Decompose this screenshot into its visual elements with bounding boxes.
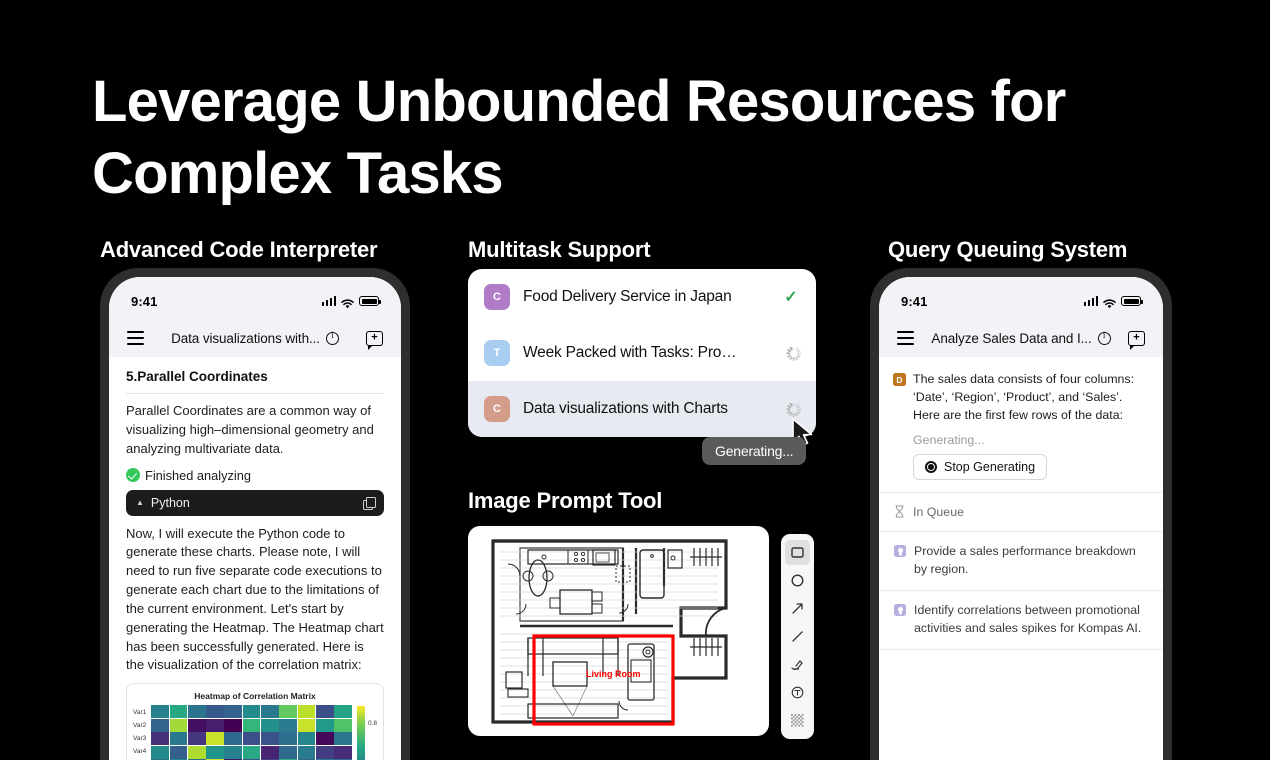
- line-tool-icon[interactable]: [785, 624, 810, 649]
- section-title-query-queuing: Query Queuing System: [888, 237, 1127, 263]
- task-title: Data visualizations with Charts: [523, 400, 772, 418]
- heatmap-cell: [334, 732, 352, 745]
- battery-icon: [359, 296, 379, 306]
- arrow-tool-icon[interactable]: [785, 596, 810, 621]
- chart-title: Heatmap of Correlation Matrix: [133, 691, 377, 701]
- info-circle-icon[interactable]: [326, 332, 339, 345]
- heatmap-cell: [151, 746, 169, 759]
- section-title-code-interpreter: Advanced Code Interpreter: [100, 237, 377, 263]
- section-title-multitask: Multitask Support: [468, 237, 650, 263]
- avatar: T: [484, 340, 510, 366]
- text-tool-icon[interactable]: [785, 680, 810, 705]
- multitask-list-card: CFood Delivery Service in Japan✓TWeek Pa…: [468, 269, 816, 437]
- avatar: C: [484, 396, 510, 422]
- analysis-status-label: Finished analyzing: [145, 468, 251, 483]
- task-list-item[interactable]: CData visualizations with Charts: [468, 381, 816, 437]
- queue-item-text: Provide a sales performance breakdown by…: [914, 543, 1148, 579]
- nav-title-group: Analyze Sales Data and I...: [879, 331, 1163, 346]
- heatmap-cell: [243, 732, 261, 745]
- heatmap-cell: [243, 746, 261, 759]
- code-language-label: Python: [151, 496, 190, 510]
- ellipse-tool-icon[interactable]: [785, 568, 810, 593]
- status-bar: 9:41: [109, 277, 401, 319]
- info-circle-icon[interactable]: [1098, 332, 1111, 345]
- queue-list-item[interactable]: Identify correlations between promotiona…: [879, 591, 1163, 649]
- avatar: C: [484, 284, 510, 310]
- queue-header: In Queue: [879, 493, 1163, 531]
- chat-content-left: 5.Parallel Coordinates Parallel Coordina…: [109, 357, 401, 760]
- divider: [879, 649, 1163, 650]
- heatmap-cell: [334, 746, 352, 759]
- pen-tool-icon[interactable]: [785, 652, 810, 677]
- heatmap-cell: [243, 719, 261, 732]
- queue-item-text: Identify correlations between promotiona…: [914, 602, 1148, 638]
- message-paragraph: Parallel Coordinates are a common way of…: [126, 402, 384, 459]
- heatmap-cell: [261, 719, 279, 732]
- stop-record-icon: [925, 461, 937, 473]
- heatmap-cell: [279, 732, 297, 745]
- heatmap-cell: [261, 732, 279, 745]
- wifi-icon: [341, 296, 354, 306]
- status-icons: [322, 296, 380, 306]
- rectangle-tool-icon[interactable]: [785, 540, 810, 565]
- hamburger-menu-icon[interactable]: [897, 331, 914, 344]
- heatmap-cell: [298, 719, 316, 732]
- status-bar: 9:41: [879, 277, 1163, 319]
- heatmap-cell: [261, 746, 279, 759]
- task-list-item[interactable]: TWeek Packed with Tasks: Pro…: [468, 325, 816, 381]
- user-badge-icon: [894, 604, 906, 616]
- heatmap-cell: [151, 705, 169, 718]
- heatmap-cell: [298, 732, 316, 745]
- heatmap-cell: [334, 719, 352, 732]
- phone-mockup-right: 9:41 Analyze Sales Data and I... +: [870, 268, 1172, 760]
- heatmap-cell: [188, 719, 206, 732]
- chat-content-right: D The sales data consists of four column…: [879, 357, 1163, 650]
- task-list: CFood Delivery Service in Japan✓TWeek Pa…: [468, 269, 816, 437]
- new-chat-icon[interactable]: +: [366, 331, 383, 346]
- heatmap-cell: [243, 705, 261, 718]
- nav-title-group: Data visualizations with...: [109, 331, 401, 346]
- section-title-image-prompt-tool: Image Prompt Tool: [468, 488, 662, 514]
- nav-bar: Analyze Sales Data and I... +: [879, 319, 1163, 357]
- message-heading: 5.Parallel Coordinates: [126, 369, 384, 393]
- chat-title: Analyze Sales Data and I...: [931, 331, 1091, 346]
- spinner-icon: [785, 346, 800, 361]
- heatmap-cell: [316, 732, 334, 745]
- document-badge: D: [893, 373, 906, 386]
- heatmap-cell: [170, 746, 188, 759]
- drawing-toolbar[interactable]: [781, 534, 814, 739]
- heatmap-cell: [279, 746, 297, 759]
- heatmap-cell: [224, 732, 242, 745]
- heatmap-cell: [224, 705, 242, 718]
- task-title: Week Packed with Tasks: Pro…: [523, 344, 772, 362]
- code-block-header[interactable]: ▲ Python: [126, 490, 384, 516]
- annotation-label: Living Room: [586, 669, 641, 679]
- colorbar-tick-labels: 0.80.6: [368, 706, 377, 760]
- phone-mockup-left: 9:41 Data visualizations with... +: [100, 268, 410, 760]
- triangle-collapse-icon[interactable]: ▲: [136, 498, 144, 507]
- heatmap-cell: [298, 746, 316, 759]
- heatmap-cell: [206, 705, 224, 718]
- heatmap-cells: [151, 705, 352, 760]
- chart-body: Var1Var2Var3Var4Var5Var6 0.80.6: [133, 705, 377, 760]
- heatmap-cell: [151, 719, 169, 732]
- poster-canvas: Leverage Unbounded Resources for Complex…: [0, 0, 1270, 760]
- task-list-item[interactable]: CFood Delivery Service in Japan✓: [468, 269, 816, 325]
- heatmap-cell: [206, 719, 224, 732]
- generating-label: Generating...: [913, 433, 1148, 447]
- heatmap-cell: [261, 705, 279, 718]
- assistant-message-body: The sales data consists of four columns:…: [913, 371, 1148, 480]
- cellular-bars-icon: [322, 296, 337, 306]
- assistant-message-text: The sales data consists of four columns:…: [913, 371, 1148, 425]
- heatmap-cell: [188, 746, 206, 759]
- heatmap-cell: [316, 705, 334, 718]
- heatmap-cell: [224, 746, 242, 759]
- heatmap-cell: [170, 705, 188, 718]
- pattern-fill-icon[interactable]: [785, 708, 810, 733]
- check-circle-icon: [126, 468, 140, 482]
- heatmap-cell: [279, 719, 297, 732]
- heatmap-cell: [170, 732, 188, 745]
- wifi-icon: [1103, 296, 1116, 306]
- battery-icon: [1121, 296, 1141, 306]
- heatmap-cell: [206, 746, 224, 759]
- colorbar: 0.80.6: [357, 705, 377, 760]
- heatmap-cell: [206, 732, 224, 745]
- generating-tooltip: Generating...: [702, 437, 806, 465]
- heatmap-cell: [151, 732, 169, 745]
- user-badge-icon: [894, 545, 906, 557]
- colorbar-gradient: [357, 706, 365, 760]
- status-time: 9:41: [131, 294, 157, 309]
- status-time: 9:41: [901, 294, 927, 309]
- hourglass-icon: [894, 505, 905, 518]
- task-title: Food Delivery Service in Japan: [523, 288, 769, 306]
- analysis-status: Finished analyzing: [126, 468, 384, 483]
- spinner-icon: [785, 402, 800, 417]
- nav-bar: Data visualizations with... +: [109, 319, 401, 357]
- floor-plan-drawing: Living Room: [468, 526, 769, 736]
- assistant-message: Now, I will execute the Python code to g…: [126, 525, 384, 676]
- heatmap-cell: [170, 719, 188, 732]
- heatmap-cell: [298, 705, 316, 718]
- heatmap-cell: [316, 746, 334, 759]
- heatmap-cell: [334, 705, 352, 718]
- heatmap-cell: [188, 732, 206, 745]
- stop-generating-label: Stop Generating: [944, 460, 1035, 474]
- queue-list: Provide a sales performance breakdown by…: [879, 532, 1163, 650]
- heatmap-cell: [279, 705, 297, 718]
- queue-label: In Queue: [913, 505, 964, 519]
- heatmap-cell: [224, 719, 242, 732]
- heatmap-chart-card: Heatmap of Correlation Matrix Var1Var2Va…: [126, 683, 384, 760]
- queue-list-item[interactable]: Provide a sales performance breakdown by…: [879, 532, 1163, 590]
- phone-screen-right: 9:41 Analyze Sales Data and I... +: [879, 277, 1163, 760]
- copy-icon[interactable]: [363, 497, 374, 508]
- heatmap-cell: [316, 719, 334, 732]
- divider: [126, 393, 384, 394]
- image-prompt-canvas[interactable]: Living Room: [468, 526, 769, 736]
- new-chat-icon[interactable]: +: [1128, 331, 1145, 346]
- assistant-message-row: D The sales data consists of four column…: [879, 357, 1163, 492]
- heatmap-row-labels: Var1Var2Var3Var4Var5Var6: [133, 705, 146, 760]
- heatmap-cell: [188, 705, 206, 718]
- hamburger-menu-icon[interactable]: [127, 331, 144, 344]
- status-icons: [1084, 296, 1142, 306]
- check-icon: ✓: [782, 287, 800, 307]
- phone-screen-left: 9:41 Data visualizations with... +: [109, 277, 401, 760]
- stop-generating-button[interactable]: Stop Generating: [913, 454, 1047, 480]
- page-title: Leverage Unbounded Resources for Complex…: [92, 66, 1122, 210]
- cellular-bars-icon: [1084, 296, 1099, 306]
- chat-title: Data visualizations with...: [171, 331, 320, 346]
